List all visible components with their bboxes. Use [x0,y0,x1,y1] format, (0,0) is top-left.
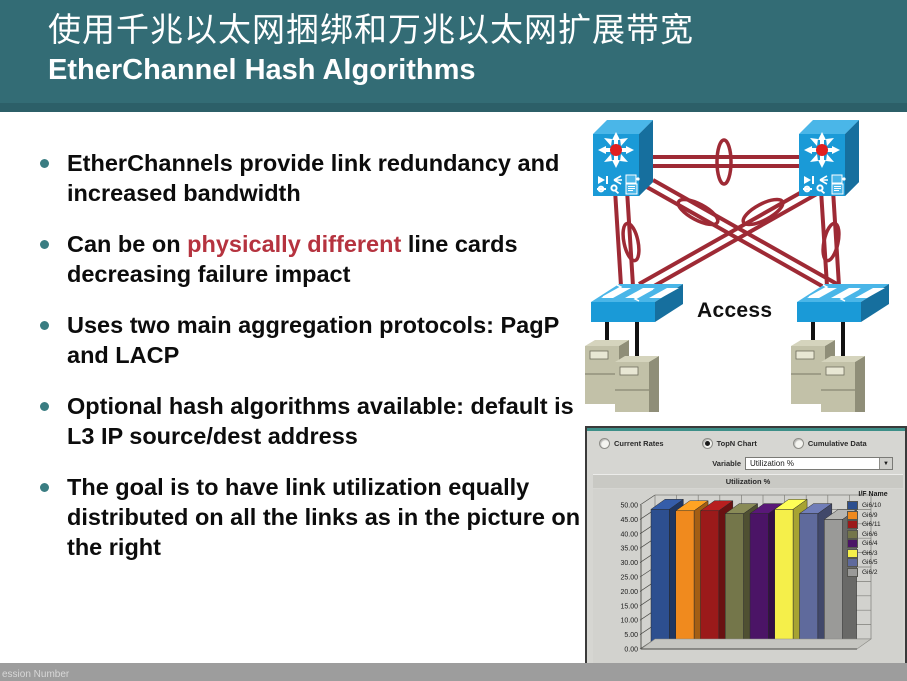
svg-text:35.00: 35.00 [620,546,638,553]
legend-item: Gi6/3 [847,549,899,559]
bullet-text-1: EtherChannels provide link redundancy an… [67,148,600,208]
chart-mode-radio-group: Current Rates TopN Chart Cumulative Data [587,433,905,453]
legend-item-label: Gi6/10 [862,502,881,509]
legend-color-swatch [847,539,858,548]
chart-title-bar: Utilization % [593,474,903,488]
server-right-2 [821,356,865,412]
access-layer-label: Access [697,299,772,323]
utilization-chart-panel: Current Rates TopN Chart Cumulative Data… [585,426,907,681]
legend-item-label: Gi6/9 [862,512,878,519]
bullet-dot-icon [40,321,49,330]
panel-top-accent [587,428,905,431]
svg-text:45.00: 45.00 [620,517,638,524]
bullet-text-3: Uses two main aggregation protocols: Pag… [67,310,600,370]
radio-topn-chart-label: TopN Chart [717,439,757,448]
footer-session-number: ession Number [2,669,69,680]
bullet-item-2: Can be on physically different line card… [40,229,600,289]
legend-color-swatch [847,558,858,567]
legend-item-label: Gi6/6 [862,531,878,538]
radio-current-rates-label: Current Rates [614,439,664,448]
legend-item: Gi6/6 [847,530,899,540]
radio-circle-icon [793,438,804,449]
bullet-dot-icon [40,240,49,249]
slide-title-chinese: 使用千兆以太网捆绑和万兆以太网扩展带宽 [48,10,868,50]
chart-title: Utilization % [726,477,771,486]
slide-title-english: EtherChannel Hash Algorithms [48,52,868,88]
variable-selector-row: Variable Utilization % ▼ [587,455,905,472]
svg-text:0.00: 0.00 [624,647,638,654]
legend-rows: Gi6/10Gi6/9Gi6/11Gi6/6Gi6/4Gi6/3Gi6/5Gi6… [847,501,899,577]
svg-text:50.00: 50.00 [620,503,638,510]
bullet-item-1: EtherChannels provide link redundancy an… [40,148,600,208]
legend-item: Gi6/5 [847,558,899,568]
svg-text:15.00: 15.00 [620,603,638,610]
bullet-item-5: The goal is to have link utilization equ… [40,472,600,562]
legend-color-swatch [847,511,858,520]
bullet-list: EtherChannels provide link redundancy an… [40,148,600,583]
svg-text:30.00: 30.00 [620,560,638,567]
radio-cumulative-data-label: Cumulative Data [808,439,867,448]
bullet-item-3: Uses two main aggregation protocols: Pag… [40,310,600,370]
variable-dropdown[interactable]: Utilization % ▼ [745,457,893,470]
chart-bars [651,499,857,649]
legend-item: Gi6/9 [847,511,899,521]
svg-text:40.00: 40.00 [620,531,638,538]
svg-text:25.00: 25.00 [620,575,638,582]
radio-cumulative-data[interactable]: Cumulative Data [793,438,867,449]
bullet-text-5: The goal is to have link utilization equ… [67,472,600,562]
svg-text:5.00: 5.00 [624,632,638,639]
bullet-item-4: Optional hash algorithms available: defa… [40,391,600,451]
bullet-text-2: Can be on physically different line card… [67,229,600,289]
legend-item-label: Gi6/5 [862,559,878,566]
legend-item: Gi6/11 [847,520,899,530]
legend-color-swatch [847,549,858,558]
bullet-text-4: Optional hash algorithms available: defa… [67,391,600,451]
access-switch-left [591,284,683,322]
radio-topn-chart[interactable]: TopN Chart [702,438,757,449]
legend-color-swatch [847,501,858,510]
bullet-text-2-highlight: physically different [187,231,401,257]
variable-label: Variable [712,459,741,468]
bullet-text-2-pre: Can be on [67,231,187,257]
core-switch-left [593,120,653,196]
slide-footer [0,663,907,681]
svg-text:10.00: 10.00 [620,618,638,625]
bullet-dot-icon [40,483,49,492]
network-topology-diagram [585,112,907,412]
legend-item: Gi6/2 [847,568,899,578]
chevron-down-icon[interactable]: ▼ [879,458,892,469]
access-switch-right [797,284,889,322]
legend-color-swatch [847,520,858,529]
server-left-2 [615,356,659,412]
legend-title: I/F Name [847,491,899,498]
legend-item-label: Gi6/3 [862,550,878,557]
chart-legend: I/F Name Gi6/10Gi6/9Gi6/11Gi6/6Gi6/4Gi6/… [847,491,899,577]
legend-color-swatch [847,568,858,577]
svg-text:20.00: 20.00 [620,589,638,596]
variable-dropdown-value: Utilization % [746,459,794,468]
bullet-dot-icon [40,159,49,168]
legend-item: Gi6/4 [847,539,899,549]
header-underline [0,103,907,112]
bullet-dot-icon [40,402,49,411]
radio-circle-selected-icon [702,438,713,449]
legend-item: Gi6/10 [847,501,899,511]
radio-circle-icon [599,438,610,449]
radio-current-rates[interactable]: Current Rates [599,438,664,449]
legend-color-swatch [847,530,858,539]
core-switch-right [799,120,859,196]
legend-item-label: Gi6/4 [862,540,878,547]
legend-item-label: Gi6/11 [862,521,881,528]
legend-item-label: Gi6/2 [862,569,878,576]
